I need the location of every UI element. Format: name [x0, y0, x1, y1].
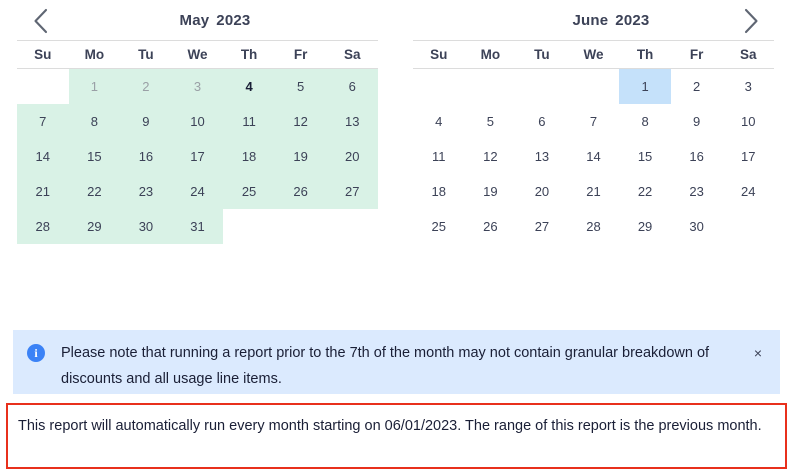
day-cell-may-12[interactable]: 12 — [275, 104, 327, 139]
month-title-right: June2023 — [538, 0, 650, 46]
day-cell-june-9[interactable]: 9 — [671, 104, 723, 139]
day-cell-may-11[interactable]: 11 — [223, 104, 275, 139]
day-cell-may-25[interactable]: 25 — [223, 174, 275, 209]
month-name-left: May — [180, 12, 210, 29]
day-cell-may-17[interactable]: 17 — [172, 139, 224, 174]
day-cell-may-30[interactable]: 30 — [120, 209, 172, 244]
day-cell-may-28[interactable]: 28 — [17, 209, 69, 244]
day-cell-june-14[interactable]: 14 — [568, 139, 620, 174]
day-cell-may-21[interactable]: 21 — [17, 174, 69, 209]
month-header-right: June2023 — [413, 0, 774, 40]
day-cell-may-23[interactable]: 23 — [120, 174, 172, 209]
day-cell-june-11[interactable]: 11 — [413, 139, 465, 174]
day-cell-june-23[interactable]: 23 — [671, 174, 723, 209]
date-range-picker: May2023 SuMoTuWeThFrSa 12345678910111213… — [0, 0, 793, 318]
day-cell-may-5[interactable]: 5 — [275, 69, 327, 104]
weekday-label-we: We — [568, 47, 620, 62]
weekday-label-tu: Tu — [516, 47, 568, 62]
day-cell-june-6[interactable]: 6 — [516, 104, 568, 139]
schedule-note-message: This report will automatically run every… — [18, 418, 762, 434]
day-cell-june-2[interactable]: 2 — [671, 69, 723, 104]
day-cell-june-5[interactable]: 5 — [465, 104, 517, 139]
month-year-right: 2023 — [615, 12, 649, 29]
day-cell-may-24[interactable]: 24 — [172, 174, 224, 209]
weekday-label-fr: Fr — [275, 47, 327, 62]
day-cell-june-25[interactable]: 25 — [413, 209, 465, 244]
weekday-label-mo: Mo — [69, 47, 121, 62]
weekday-label-th: Th — [223, 47, 275, 62]
day-cell-june-30[interactable]: 30 — [671, 209, 723, 244]
month-name-right: June — [572, 12, 608, 29]
day-cell-empty — [326, 209, 378, 244]
chevron-right-icon — [743, 8, 760, 34]
info-banner-message: Please note that running a report prior … — [61, 340, 738, 392]
weekday-label-tu: Tu — [120, 47, 172, 62]
day-cell-may-6[interactable]: 6 — [326, 69, 378, 104]
month-year-left: 2023 — [216, 12, 250, 29]
day-cell-june-18[interactable]: 18 — [413, 174, 465, 209]
month-header-left: May2023 — [17, 0, 378, 40]
weekday-label-mo: Mo — [465, 47, 517, 62]
day-cell-may-15[interactable]: 15 — [69, 139, 121, 174]
day-cell-june-17[interactable]: 17 — [722, 139, 774, 174]
weekday-label-sa: Sa — [722, 47, 774, 62]
day-cell-june-10[interactable]: 10 — [722, 104, 774, 139]
day-cell-may-31[interactable]: 31 — [172, 209, 224, 244]
day-cell-may-20[interactable]: 20 — [326, 139, 378, 174]
weekday-label-th: Th — [619, 47, 671, 62]
weekday-label-su: Su — [17, 47, 69, 62]
day-cell-may-13[interactable]: 13 — [326, 104, 378, 139]
day-cell-empty — [413, 69, 465, 104]
close-icon[interactable]: × — [748, 343, 768, 363]
day-cell-may-27[interactable]: 27 — [326, 174, 378, 209]
day-cell-may-19[interactable]: 19 — [275, 139, 327, 174]
day-grid-right: 1234567891011121314151617181920212223242… — [413, 69, 774, 244]
day-cell-june-26[interactable]: 26 — [465, 209, 517, 244]
day-cell-may-29[interactable]: 29 — [69, 209, 121, 244]
day-cell-june-21[interactable]: 21 — [568, 174, 620, 209]
weekday-label-we: We — [172, 47, 224, 62]
day-cell-empty — [465, 69, 517, 104]
day-cell-june-1[interactable]: 1 — [619, 69, 671, 104]
day-cell-may-9[interactable]: 9 — [120, 104, 172, 139]
day-cell-june-4[interactable]: 4 — [413, 104, 465, 139]
calendar-month-left: May2023 SuMoTuWeThFrSa 12345678910111213… — [0, 0, 396, 318]
day-cell-empty — [568, 69, 620, 104]
day-cell-may-18[interactable]: 18 — [223, 139, 275, 174]
day-cell-may-22[interactable]: 22 — [69, 174, 121, 209]
day-cell-may-1[interactable]: 1 — [69, 69, 121, 104]
day-cell-empty — [516, 69, 568, 104]
day-cell-june-24[interactable]: 24 — [722, 174, 774, 209]
day-cell-may-4[interactable]: 4 — [223, 69, 275, 104]
calendar-month-right: June2023 SuMoTuWeThFrSa 1234567891011121… — [396, 0, 792, 318]
info-circle-icon: i — [27, 344, 45, 362]
day-cell-empty — [275, 209, 327, 244]
day-cell-june-22[interactable]: 22 — [619, 174, 671, 209]
day-cell-june-19[interactable]: 19 — [465, 174, 517, 209]
day-cell-may-10[interactable]: 10 — [172, 104, 224, 139]
day-cell-may-16[interactable]: 16 — [120, 139, 172, 174]
day-cell-june-20[interactable]: 20 — [516, 174, 568, 209]
day-cell-june-15[interactable]: 15 — [619, 139, 671, 174]
day-cell-june-28[interactable]: 28 — [568, 209, 620, 244]
day-cell-june-13[interactable]: 13 — [516, 139, 568, 174]
day-cell-may-26[interactable]: 26 — [275, 174, 327, 209]
prev-month-button[interactable] — [25, 6, 55, 36]
day-cell-empty — [722, 209, 774, 244]
weekday-label-fr: Fr — [671, 47, 723, 62]
day-cell-june-16[interactable]: 16 — [671, 139, 723, 174]
next-month-button[interactable] — [736, 6, 766, 36]
day-grid-left: 1234567891011121314151617181920212223242… — [17, 69, 378, 244]
day-cell-empty — [223, 209, 275, 244]
weekday-label-su: Su — [413, 47, 465, 62]
day-cell-june-3[interactable]: 3 — [722, 69, 774, 104]
day-cell-june-12[interactable]: 12 — [465, 139, 517, 174]
day-cell-may-7[interactable]: 7 — [17, 104, 69, 139]
day-cell-june-8[interactable]: 8 — [619, 104, 671, 139]
day-cell-june-7[interactable]: 7 — [568, 104, 620, 139]
month-title-left: May2023 — [145, 0, 251, 46]
day-cell-june-29[interactable]: 29 — [619, 209, 671, 244]
chevron-left-icon — [32, 8, 49, 34]
schedule-note: This report will automatically run every… — [6, 403, 787, 469]
weekday-label-sa: Sa — [326, 47, 378, 62]
day-cell-june-27[interactable]: 27 — [516, 209, 568, 244]
day-cell-empty — [17, 69, 69, 104]
day-cell-may-14[interactable]: 14 — [17, 139, 69, 174]
info-banner: i Please note that running a report prio… — [13, 330, 780, 394]
day-cell-may-2[interactable]: 2 — [120, 69, 172, 104]
day-cell-may-8[interactable]: 8 — [69, 104, 121, 139]
day-cell-may-3[interactable]: 3 — [172, 69, 224, 104]
